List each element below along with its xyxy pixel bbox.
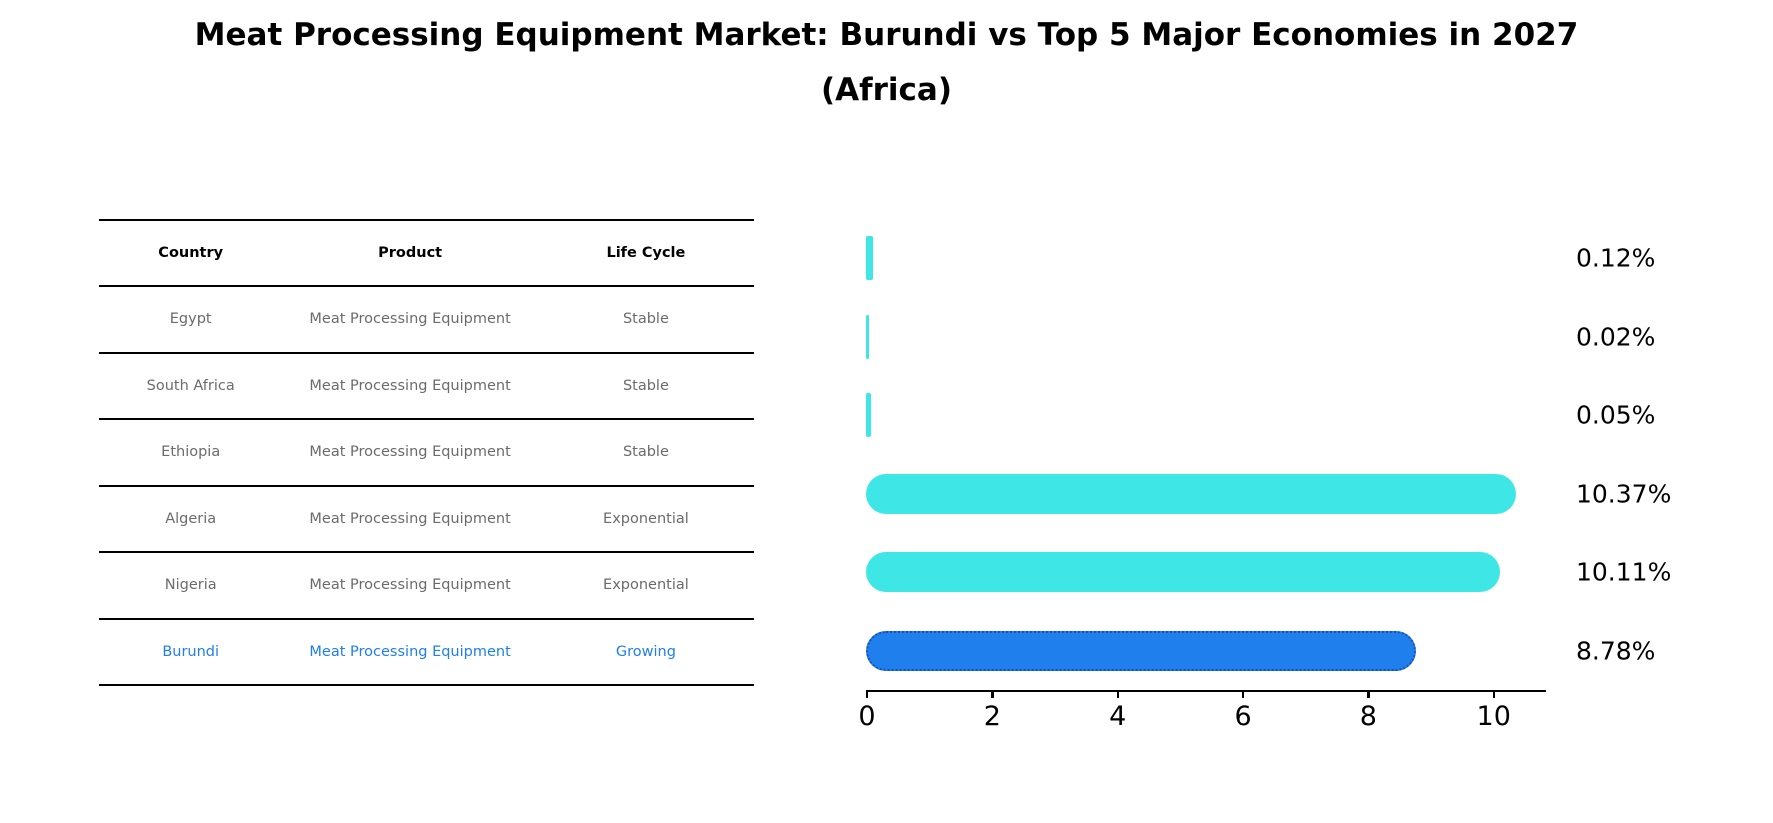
country-table-panel: Country Product Life Cycle Egypt Meat Pr…	[99, 219, 754, 690]
bar-value-label: 8.78%	[1576, 636, 1655, 665]
table-row: Nigeria Meat Processing Equipment Expone…	[99, 552, 754, 619]
x-axis-tick	[1367, 690, 1369, 698]
title-line-1: Meat Processing Equipment Market: Burund…	[0, 8, 1773, 63]
bar	[866, 393, 871, 437]
x-axis-tick	[1117, 690, 1119, 698]
cell-life-cycle: Exponential	[538, 486, 754, 553]
cell-product: Meat Processing Equipment	[282, 353, 537, 420]
table-row: Algeria Meat Processing Equipment Expone…	[99, 486, 754, 553]
bar-row: 0.02%	[866, 298, 1546, 377]
column-header-life-cycle: Life Cycle	[538, 220, 754, 286]
table-row-highlighted: Burundi Meat Processing Equipment Growin…	[99, 619, 754, 686]
x-axis: 0246810	[866, 690, 1546, 760]
cell-product: Meat Processing Equipment	[282, 619, 537, 686]
chart-figure: Meat Processing Equipment Market: Burund…	[0, 0, 1773, 823]
bar	[866, 552, 1500, 592]
table-row: South Africa Meat Processing Equipment S…	[99, 353, 754, 420]
cell-country: Nigeria	[99, 552, 282, 619]
country-table: Country Product Life Cycle Egypt Meat Pr…	[99, 219, 754, 686]
bar-value-label: 0.12%	[1576, 244, 1655, 273]
bar-highlighted	[866, 631, 1416, 671]
cell-life-cycle: Stable	[538, 419, 754, 486]
cell-product: Meat Processing Equipment	[282, 486, 537, 553]
table-row: Egypt Meat Processing Equipment Stable	[99, 286, 754, 353]
cell-country: Egypt	[99, 286, 282, 353]
bar-value-label: 10.11%	[1576, 558, 1671, 587]
bar-row: 8.78%	[866, 612, 1546, 691]
x-axis-tick-label: 10	[1477, 701, 1511, 732]
table-row: Ethiopia Meat Processing Equipment Stabl…	[99, 419, 754, 486]
bar-value-label: 10.37%	[1576, 479, 1671, 508]
column-header-product: Product	[282, 220, 537, 286]
title-line-2: (Africa)	[0, 63, 1773, 118]
bar	[866, 474, 1516, 514]
x-axis-line	[866, 690, 1546, 692]
bar-row: 0.05%	[866, 376, 1546, 455]
table-body: Egypt Meat Processing Equipment Stable S…	[99, 286, 754, 685]
x-axis-tick	[1242, 690, 1244, 698]
bar-row: 10.11%	[866, 533, 1546, 612]
cell-life-cycle: Stable	[538, 353, 754, 420]
cell-life-cycle: Stable	[538, 286, 754, 353]
cell-country: Burundi	[99, 619, 282, 686]
x-axis-tick	[991, 690, 993, 698]
x-axis-tick	[866, 690, 868, 698]
cell-life-cycle: Growing	[538, 619, 754, 686]
table-header: Country Product Life Cycle	[99, 220, 754, 286]
cell-country: Algeria	[99, 486, 282, 553]
bar	[866, 236, 873, 280]
bar-value-label: 0.05%	[1576, 401, 1655, 430]
cell-product: Meat Processing Equipment	[282, 419, 537, 486]
x-axis-tick-label: 6	[1234, 701, 1251, 732]
x-axis-tick-label: 2	[984, 701, 1001, 732]
table-header-row: Country Product Life Cycle	[99, 220, 754, 286]
column-header-country: Country	[99, 220, 282, 286]
x-axis-tick-label: 4	[1109, 701, 1126, 732]
bar-value-label: 0.02%	[1576, 322, 1655, 351]
x-axis-tick-label: 8	[1360, 701, 1377, 732]
bars-area: 0.12%0.02%0.05%10.37%10.11%8.78%	[866, 219, 1546, 690]
page-title: Meat Processing Equipment Market: Burund…	[0, 8, 1773, 118]
bar-row: 10.37%	[866, 455, 1546, 534]
x-axis-tick	[1493, 690, 1495, 698]
bar-chart-panel: 0.12%0.02%0.05%10.37%10.11%8.78%	[866, 219, 1566, 690]
bar-row: 0.12%	[866, 219, 1546, 298]
cell-product: Meat Processing Equipment	[282, 286, 537, 353]
cell-country: South Africa	[99, 353, 282, 420]
cell-product: Meat Processing Equipment	[282, 552, 537, 619]
cell-life-cycle: Exponential	[538, 552, 754, 619]
cell-country: Ethiopia	[99, 419, 282, 486]
x-axis-tick-label: 0	[858, 701, 875, 732]
bar	[866, 315, 869, 359]
